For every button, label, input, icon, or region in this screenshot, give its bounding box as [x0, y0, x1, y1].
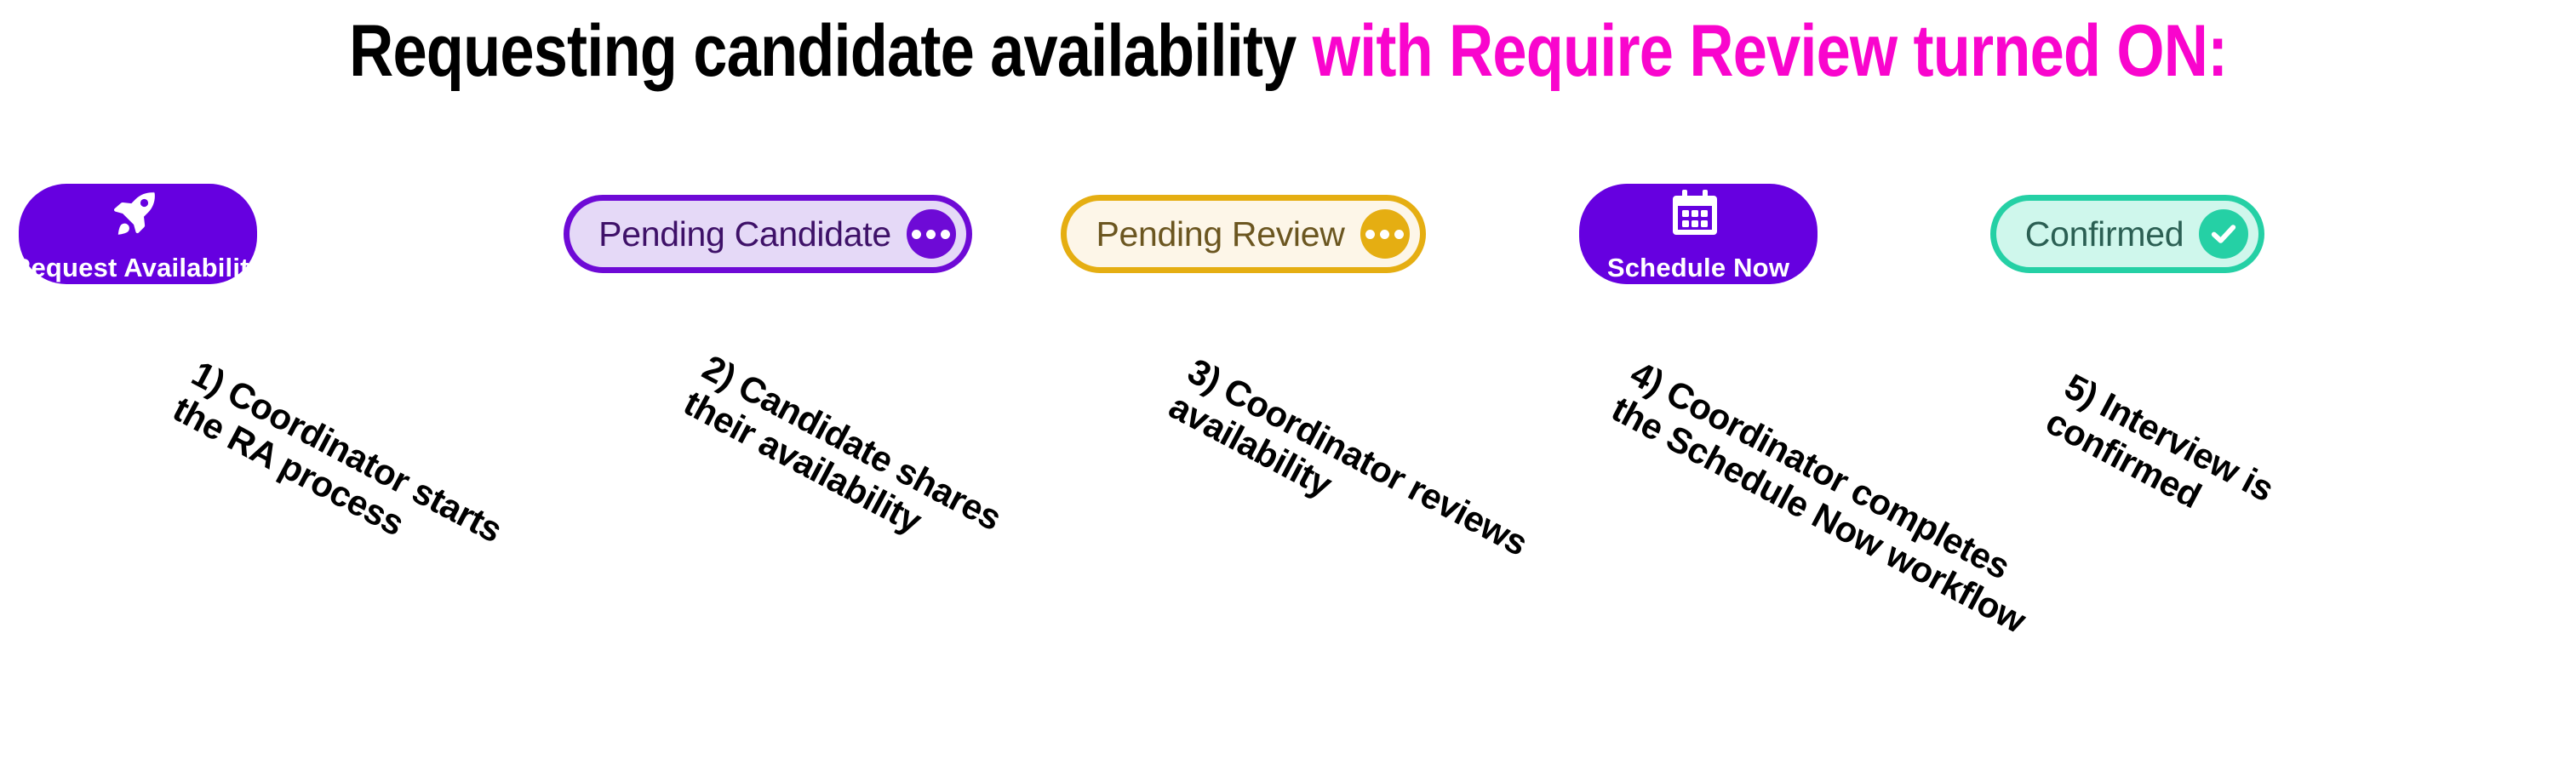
check-icon: [2199, 209, 2248, 259]
confirmed-badge[interactable]: Confirmed: [1990, 195, 2264, 273]
stage-pending-review[interactable]: Pending Review: [1037, 128, 1450, 340]
confirmed-label: Confirmed: [2025, 217, 2184, 252]
calendar-icon: [1668, 185, 1729, 244]
caption-step-3: 3) Coordinator reviews availability: [1163, 351, 1534, 599]
page-title-main: Requesting candidate availability: [349, 10, 1313, 92]
stage-confirmed[interactable]: Confirmed: [1953, 128, 2302, 340]
pending-review-badge[interactable]: Pending Review: [1061, 195, 1425, 273]
page-title: Requesting candidate availability with R…: [0, 0, 2576, 102]
pending-review-label: Pending Review: [1096, 217, 1344, 252]
caption-step-4-line2: the Schedule Now workflow: [1606, 389, 2032, 641]
stage-schedule-now[interactable]: Schedule Now: [1457, 128, 1939, 340]
caption-step-4: 4) Coordinator completes the Schedule No…: [1606, 353, 2052, 641]
request-availability-button[interactable]: Request Availability: [19, 184, 257, 284]
stage-pending-candidate[interactable]: Pending Candidate: [538, 128, 998, 340]
schedule-now-button[interactable]: Schedule Now: [1579, 184, 1818, 284]
request-availability-label: Request Availability: [12, 253, 264, 283]
ellipsis-icon: [1360, 209, 1410, 259]
caption-step-5: 5) Interview is confirmed: [2040, 366, 2281, 544]
pending-candidate-label: Pending Candidate: [598, 217, 891, 252]
workflow-stage-row: Request Availability Pending Candidate P…: [0, 128, 2576, 349]
caption-step-2: 2) Candidate shares their availability: [678, 347, 1008, 573]
rocket-icon: [107, 185, 169, 244]
ellipsis-icon: [907, 209, 956, 259]
caption-step-4-line1: 4) Coordinator completes: [1624, 353, 2051, 605]
stage-request-availability[interactable]: Request Availability: [19, 128, 257, 340]
caption-step-1: 1) Coordinator starts the RA process: [167, 353, 509, 585]
page-title-accent: with Require Review turned ON:: [1313, 10, 2228, 92]
schedule-now-label: Schedule Now: [1607, 253, 1789, 283]
pending-candidate-badge[interactable]: Pending Candidate: [564, 195, 972, 273]
